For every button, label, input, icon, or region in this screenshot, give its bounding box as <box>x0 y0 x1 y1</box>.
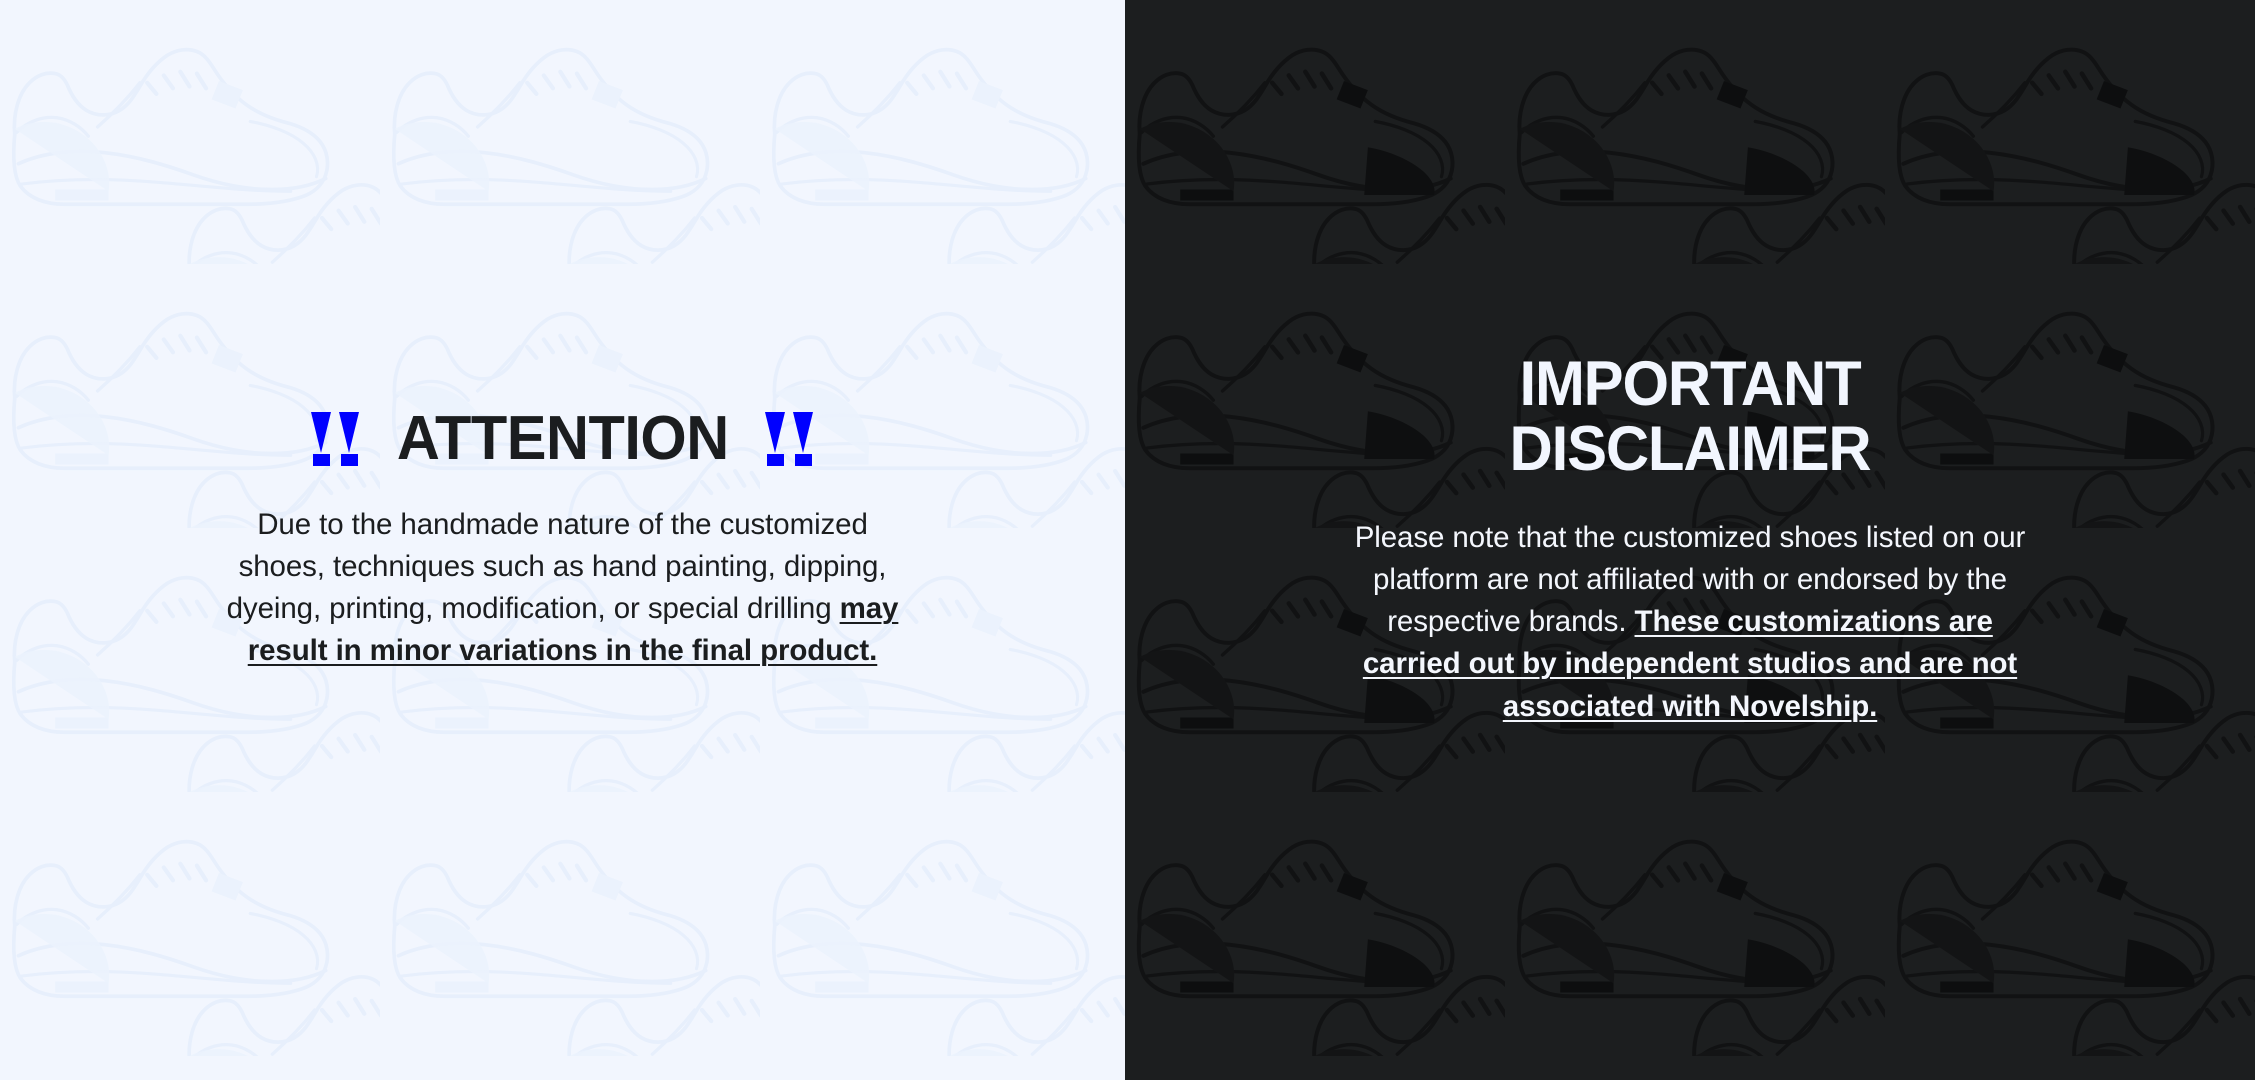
disclaimer-panel: IMPORTANT DISCLAIMER Please note that th… <box>1125 0 2255 1080</box>
attention-heading-row: ATTENTION <box>40 408 1085 470</box>
double-exclamation-mark-icon-right <box>765 412 814 466</box>
disclaimer-content: IMPORTANT DISCLAIMER Please note that th… <box>1125 352 2255 727</box>
attention-content: ATTENTION Due to the handmade nature of … <box>0 408 1125 673</box>
disclaimer-heading-line2: DISCLAIMER <box>1191 417 2189 481</box>
attention-body: Due to the handmade nature of the custom… <box>213 504 913 673</box>
attention-heading: ATTENTION <box>397 408 729 470</box>
attention-body-plain: Due to the handmade nature of the custom… <box>227 508 887 625</box>
double-exclamation-mark-icon-left <box>311 412 360 466</box>
disclaimer-banner: ATTENTION Due to the handmade nature of … <box>0 0 2255 1080</box>
disclaimer-heading-line1: IMPORTANT <box>1191 352 2189 416</box>
attention-panel: ATTENTION Due to the handmade nature of … <box>0 0 1125 1080</box>
disclaimer-heading: IMPORTANT DISCLAIMER <box>1191 352 2189 481</box>
disclaimer-body: Please note that the customized shoes li… <box>1345 517 2035 728</box>
